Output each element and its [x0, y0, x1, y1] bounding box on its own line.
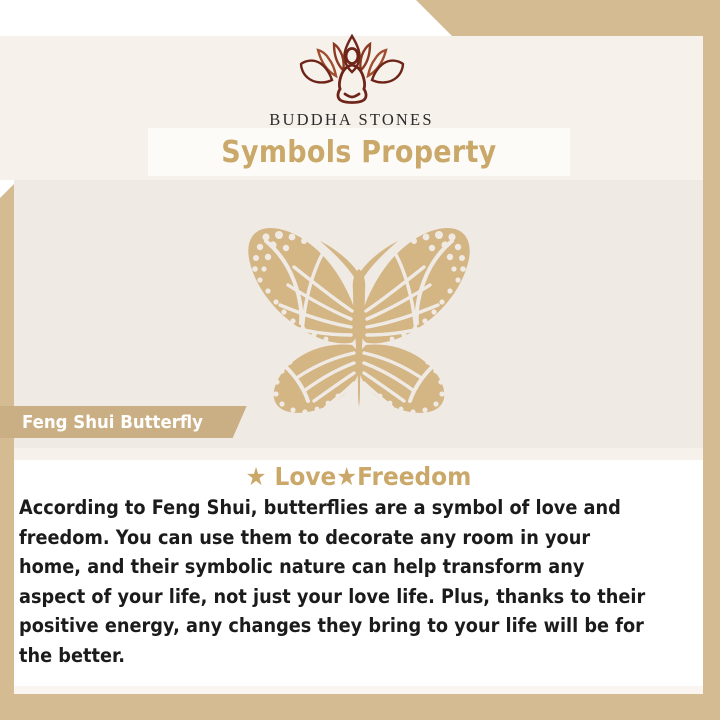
love-freedom-heading: ★ Love★Freedom	[38, 462, 679, 491]
butterfly-icon	[194, 207, 524, 422]
feng-shui-butterfly-label: Feng Shui Butterfly	[0, 406, 247, 438]
description-paragraph: According to Feng Shui, butterflies are …	[19, 493, 645, 670]
brand-logo: BUDDHA STONES	[0, 28, 703, 130]
page-title: Symbols Property	[221, 135, 496, 170]
brand-name: BUDDHA STONES	[0, 110, 703, 130]
frame-right-accent	[703, 0, 720, 720]
title-banner: Symbols Property	[148, 128, 570, 176]
feng-shui-butterfly-label-text: Feng Shui Butterfly	[22, 412, 203, 433]
panel-bottom-edge	[14, 686, 703, 694]
frame-bottom-accent	[0, 694, 720, 720]
description-panel-top-edge	[14, 448, 703, 460]
lotus-meditation-icon	[277, 28, 427, 106]
frame-left-accent	[0, 184, 14, 720]
symbols-property-infographic: BUDDHA STONES Symbols Property	[0, 0, 720, 720]
